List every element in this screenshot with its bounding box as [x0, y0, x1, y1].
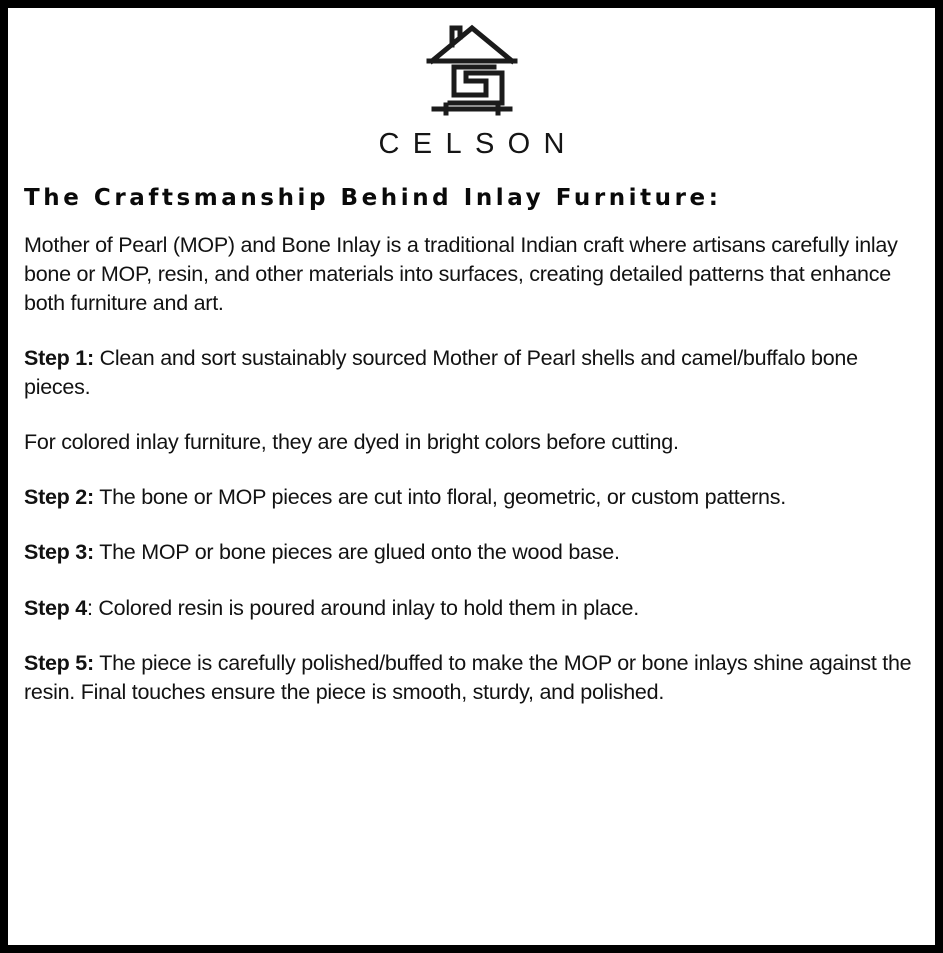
paragraph-lead: Step 3:: [24, 540, 94, 564]
paragraph-dye-note: For colored inlay furniture, they are dy…: [24, 428, 924, 457]
paragraph-text: The piece is carefully polished/buffed t…: [24, 651, 911, 704]
paragraph-step-2: Step 2: The bone or MOP pieces are cut i…: [24, 483, 924, 512]
paragraph-step-5: Step 5: The piece is carefully polished/…: [24, 649, 924, 707]
paragraph-text: Clean and sort sustainably sourced Mothe…: [24, 346, 858, 399]
paragraph-lead: Step 1:: [24, 346, 94, 370]
paragraph-intro: Mother of Pearl (MOP) and Bone Inlay is …: [24, 231, 924, 318]
poster-page: CELSON The Craftsmanship Behind Inlay Fu…: [0, 0, 943, 953]
paragraph-lead: Step 5:: [24, 651, 94, 675]
paragraph-text: The bone or MOP pieces are cut into flor…: [94, 485, 786, 509]
page-title: The Craftsmanship Behind Inlay Furniture…: [24, 185, 927, 213]
paragraph-text: The MOP or bone pieces are glued onto th…: [94, 540, 620, 564]
paragraph-step-4: Step 4: Colored resin is poured around i…: [24, 594, 924, 623]
paragraph-lead: Step 4: [24, 596, 87, 620]
paragraph-text: Colored resin is poured around inlay to …: [93, 596, 639, 620]
brand-block: CELSON: [16, 8, 927, 159]
house-monogram-logo-icon: [424, 18, 520, 118]
body-copy: Mother of Pearl (MOP) and Bone Inlay is …: [24, 213, 924, 707]
poster-inner: CELSON The Craftsmanship Behind Inlay Fu…: [8, 8, 935, 945]
paragraph-text: Mother of Pearl (MOP) and Bone Inlay is …: [24, 233, 898, 315]
paragraph-step-3: Step 3: The MOP or bone pieces are glued…: [24, 538, 924, 567]
paragraph-lead: Step 2:: [24, 485, 94, 509]
brand-wordmark: CELSON: [16, 130, 927, 159]
paragraph-text: For colored inlay furniture, they are dy…: [24, 430, 679, 454]
paragraph-step-1: Step 1: Clean and sort sustainably sourc…: [24, 344, 924, 402]
